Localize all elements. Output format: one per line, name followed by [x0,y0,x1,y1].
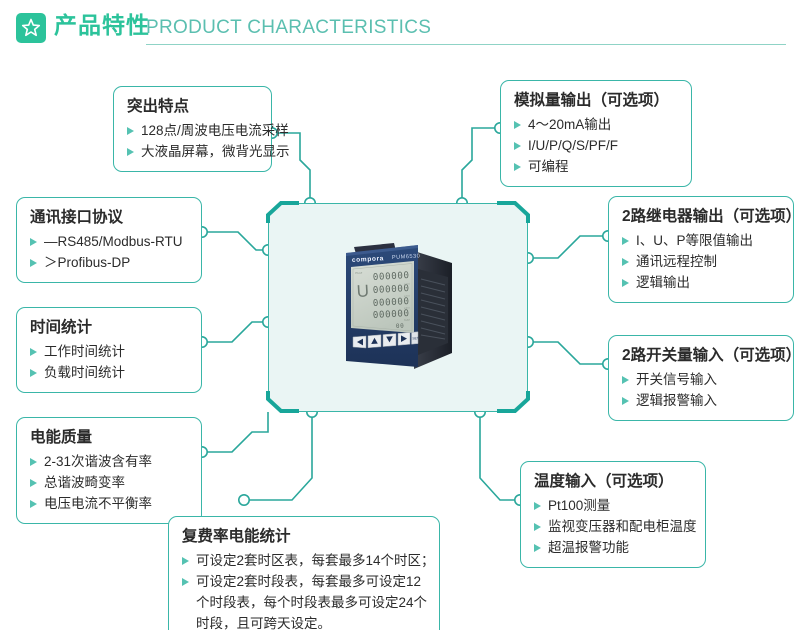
bullet-arrow-icon [30,500,37,508]
feature-box-power-quality: 电能质量 2-31次谐波含有率 总谐波畸变率 电压电流不平衡率 [16,417,202,524]
feature-item: —RS485/Modbus-RTU [30,231,189,252]
bullet-arrow-icon [127,127,134,135]
feature-box-time-statistics: 时间统计 工作时间统计 负载时间统计 [16,307,202,393]
star-in-rounded-square-icon [16,13,46,43]
feature-item: 通讯远程控制 [622,251,781,272]
bullet-arrow-icon [622,237,629,245]
feature-item: 工作时间统计 [30,341,189,362]
feature-title: 温度输入（可选项） [534,470,693,494]
page-title-cn: 产品特性 [54,10,150,40]
feature-items: 可设定2套时区表，每套最多14个时区； 可设定2套时段表，每套最多可设定12个时… [182,550,427,630]
bullet-arrow-icon [622,279,629,287]
feature-box-comm-interface: 通讯接口协议 —RS485/Modbus-RTU ＞Profibus-DP [16,197,202,283]
bullet-arrow-icon [534,502,541,510]
feature-item: 电压电流不平衡率 [30,493,189,514]
bullet-arrow-icon [30,479,37,487]
power-meter-device-image: compora PUM6530 U 000000 000000 000000 0… [318,235,483,385]
bullet-arrow-icon [127,148,134,156]
feature-item: 总谐波畸变率 [30,472,189,493]
feature-item: I/U/P/Q/S/PF/F [514,135,679,156]
connector-node [239,495,249,505]
svg-text:L2 N: L2 N [404,294,410,298]
feature-item: I、U、P等限值输出 [622,230,781,251]
feature-items: 128点/周波电压电流采样 大液晶屏幕，微背光显示 [127,120,259,162]
bullet-arrow-icon [534,544,541,552]
svg-text:000000: 000000 [373,270,410,283]
feature-items: 开关信号输入 逻辑报警输入 [622,369,781,411]
feature-box-multi-tariff: 复费率电能统计 可设定2套时区表，每套最多14个时区； 可设定2套时段表，每套最… [168,516,440,630]
feature-title: 突出特点 [127,95,259,119]
feature-item: 可设定2套时段表，每套最多可设定12个时段表，每个时段表最多可设定24个时段，且… [182,571,427,630]
device-button-left [353,336,366,348]
feature-title: 模拟量输出（可选项） [514,89,679,113]
feature-box-temperature-input: 温度输入（可选项） Pt100测量 监视变压器和配电柜温度 超温报警功能 [520,461,706,568]
feature-items: I、U、P等限值输出 通讯远程控制 逻辑输出 [622,230,781,293]
svg-text:U: U [356,281,369,301]
feature-title: 时间统计 [30,316,189,340]
page-header: 产品特性 PRODUCT CHARACTERISTICS [0,0,800,58]
feature-item: 逻辑报警输入 [622,390,781,411]
feature-title: 复费率电能统计 [182,525,427,549]
feature-box-analog-output: 模拟量输出（可选项） 4～20mA输出 I/U/P/Q/S/PF/F 可编程 [500,80,692,187]
feature-item: ＞Profibus-DP [30,252,189,273]
device-button-down [383,334,396,347]
svg-text:Phase: Phase [355,271,363,275]
feature-item: 逻辑输出 [622,272,781,293]
bullet-arrow-icon [622,376,629,384]
feature-item: 负载时间统计 [30,362,189,383]
feature-title: 通讯接口协议 [30,206,189,230]
bullet-arrow-icon [182,557,189,565]
feature-item: 4～20mA输出 [514,114,679,135]
product-characteristics-infographic: 产品特性 PRODUCT CHARACTERISTICS [0,0,800,630]
bullet-arrow-icon [30,348,37,356]
feature-item: 超温报警功能 [534,537,693,558]
feature-box-relay-output: 2路继电器输出（可选项） I、U、P等限值输出 通讯远程控制 逻辑输出 [608,196,794,303]
bullet-arrow-icon [622,258,629,266]
svg-text:SET: SET [412,336,419,340]
device-button-right [398,333,410,346]
feature-item: Pt100测量 [534,495,693,516]
bullet-arrow-icon [30,238,37,246]
svg-text:SUM: SUM [404,318,410,322]
bullet-arrow-icon [30,259,37,267]
feature-item: 可设定2套时区表，每套最多14个时区； [182,550,427,571]
bullet-arrow-icon [514,121,521,129]
feature-title: 2路继电器输出（可选项） [622,205,781,229]
feature-items: —RS485/Modbus-RTU ＞Profibus-DP [30,231,189,273]
feature-items: 工作时间统计 负载时间统计 [30,341,189,383]
feature-title: 2路开关量输入（可选项） [622,344,781,368]
feature-title: 电能质量 [30,426,189,450]
feature-item: 128点/周波电压电流采样 [127,120,259,141]
svg-text:00: 00 [396,323,405,330]
feature-item: 开关信号输入 [622,369,781,390]
bullet-arrow-icon [514,163,521,171]
bullet-arrow-icon [534,523,541,531]
feature-items: Pt100测量 监视变压器和配电柜温度 超温报警功能 [534,495,693,558]
header-divider [146,44,786,45]
svg-text:L1 N: L1 N [404,282,410,286]
svg-text:L3 N: L3 N [404,306,410,310]
feature-box-highlight-features: 突出特点 128点/周波电压电流采样 大液晶屏幕，微背光显示 [113,86,272,172]
page-title-en: PRODUCT CHARACTERISTICS [146,15,431,41]
device-button-up [368,335,381,348]
feature-items: 2-31次谐波含有率 总谐波畸变率 电压电流不平衡率 [30,451,189,514]
feature-items: 4～20mA输出 I/U/P/Q/S/PF/F 可编程 [514,114,679,177]
feature-box-digital-input: 2路开关量输入（可选项） 开关信号输入 逻辑报警输入 [608,335,794,421]
feature-item: 大液晶屏幕，微背光显示 [127,141,259,162]
device-button-set: SET [412,332,420,344]
bullet-arrow-icon [30,369,37,377]
bullet-arrow-icon [622,397,629,405]
bullet-arrow-icon [514,142,521,150]
feature-item: 监视变压器和配电柜温度 [534,516,693,537]
bullet-arrow-icon [182,578,189,586]
feature-item: 可编程 [514,156,679,177]
feature-item: 2-31次谐波含有率 [30,451,189,472]
bullet-arrow-icon [30,458,37,466]
